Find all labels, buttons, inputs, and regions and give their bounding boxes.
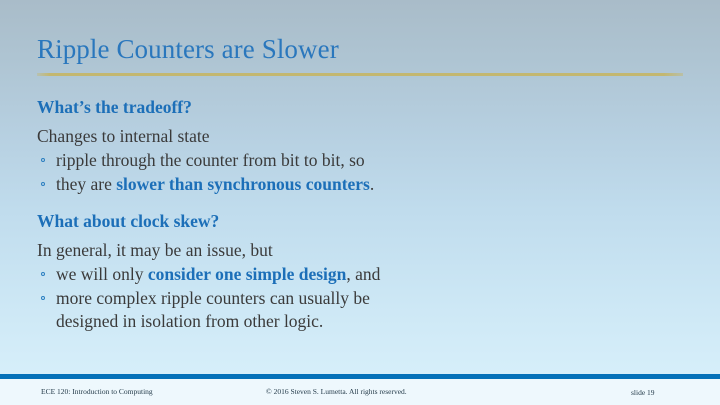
bullet-circle-icon [41, 182, 45, 186]
list-item: more complex ripple counters can usually… [37, 287, 687, 333]
bullet-text-post: . [370, 174, 374, 194]
bullet-text-emphasis: consider one simple design [148, 264, 347, 284]
bullet-list-clock-skew: we will only consider one simple design,… [37, 263, 687, 333]
footer-course-label: ECE 120: Introduction to Computing [41, 387, 153, 397]
bullet-circle-icon [41, 158, 45, 162]
page-title: Ripple Counters are Slower [37, 33, 339, 65]
bullet-circle-icon [41, 272, 45, 276]
bullet-text-post: , and [346, 264, 380, 284]
section-heading-tradeoff: What’s the tradeoff? [37, 95, 687, 119]
bullet-text-emphasis: slower than synchronous counters [116, 174, 370, 194]
footer-copyright-label: © 2016 Steven S. Lumetta. All rights res… [266, 387, 407, 397]
title-divider-rule [37, 73, 683, 76]
section-lead-tradeoff: Changes to internal state [37, 124, 687, 148]
footer-slide-number: slide 19 [631, 388, 655, 398]
bullet-list-tradeoff: ripple through the counter from bit to b… [37, 149, 687, 196]
bullet-text-pre: they are [56, 174, 116, 194]
slide-body: What’s the tradeoff? Changes to internal… [37, 95, 687, 333]
footer-divider-bar [0, 374, 720, 379]
bullet-text-pre: we will only [56, 264, 148, 284]
list-item: we will only consider one simple design,… [37, 263, 687, 286]
list-item: they are slower than synchronous counter… [37, 173, 687, 196]
slide-canvas: Ripple Counters are Slower What’s the tr… [0, 0, 720, 405]
section-heading-clock-skew: What about clock skew? [37, 209, 687, 233]
bullet-text-pre: more complex ripple counters can usually… [56, 288, 370, 308]
bullet-text-pre: ripple through the counter from bit to b… [56, 150, 365, 170]
section-lead-clock-skew: In general, it may be an issue, but [37, 238, 687, 262]
list-item: ripple through the counter from bit to b… [37, 149, 687, 172]
bullet-circle-icon [41, 296, 45, 300]
bullet-text-wrap: designed in isolation from other logic. [56, 310, 687, 333]
